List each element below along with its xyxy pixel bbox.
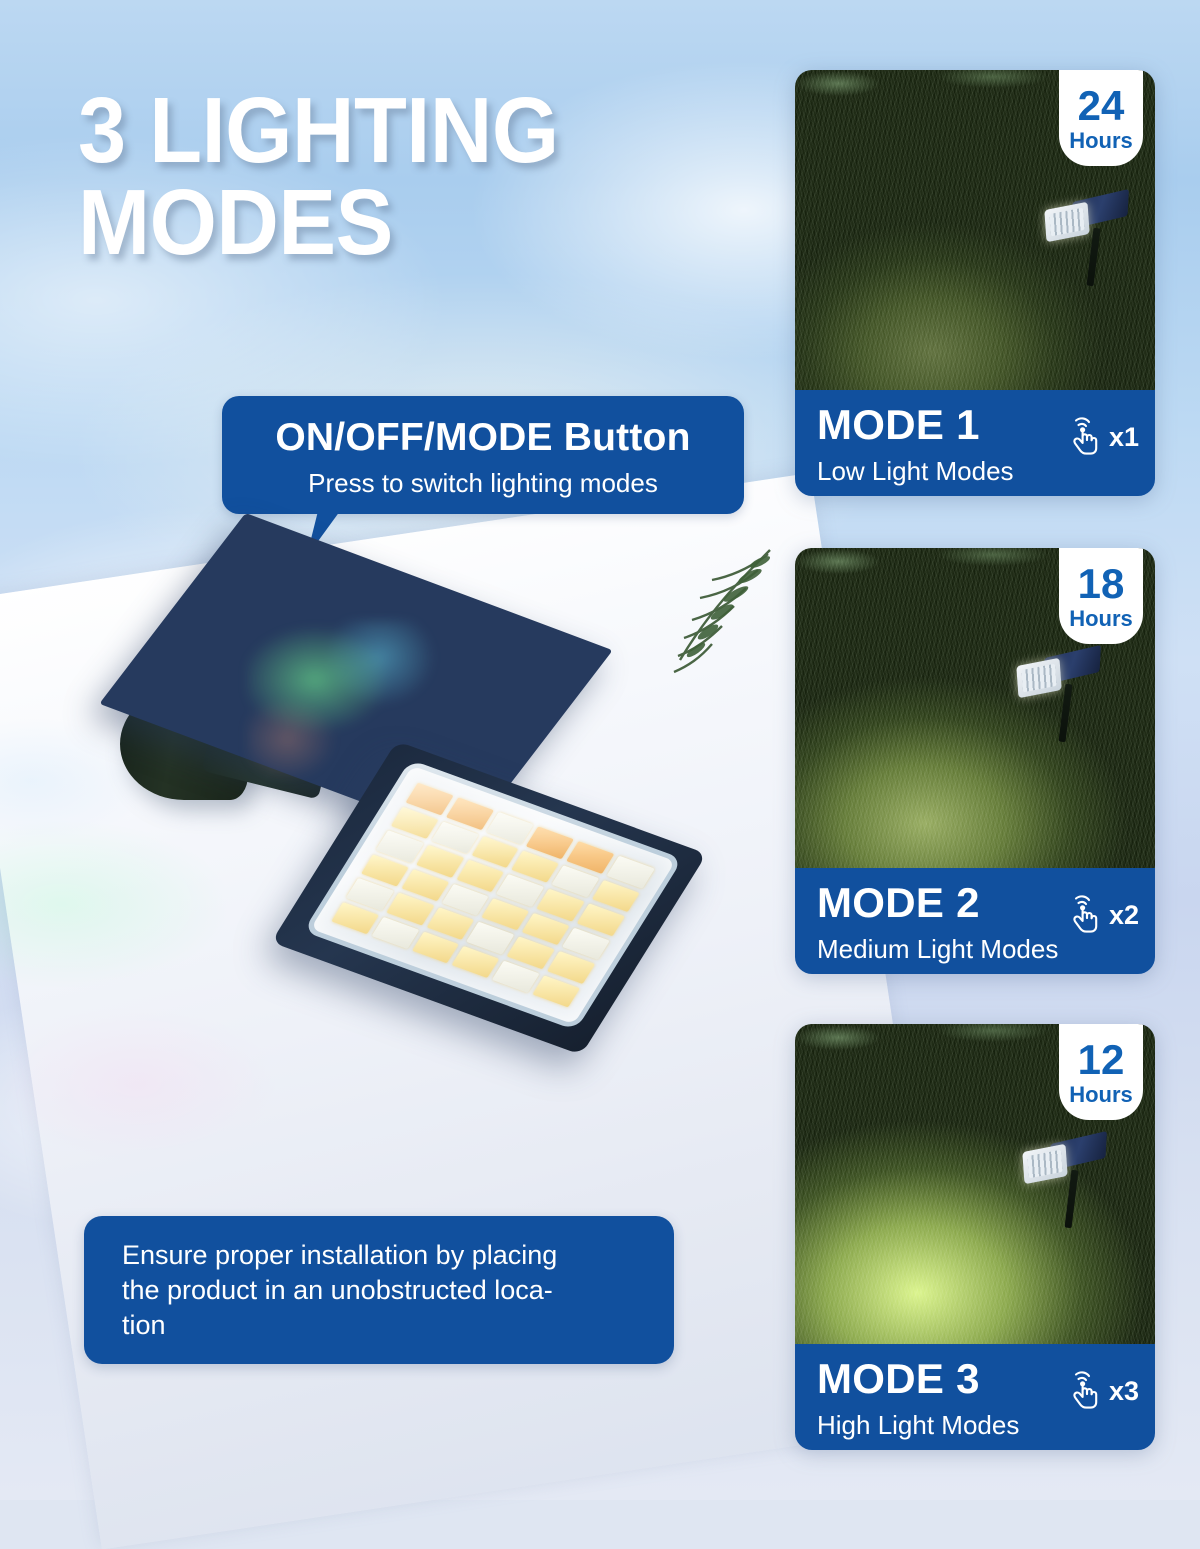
- staked-solar-lamp: [1045, 190, 1131, 286]
- mode-subtitle: High Light Modes: [817, 1412, 1155, 1438]
- tap-hand-icon: [1062, 414, 1104, 460]
- lamp-ground-stake: [1086, 228, 1100, 286]
- duration-unit: Hours: [1069, 1084, 1133, 1106]
- tap-indicator-3: x3: [1062, 1368, 1139, 1414]
- lamp-led-head: [1044, 202, 1089, 243]
- callout-subtitle: Press to switch lighting modes: [222, 457, 744, 499]
- mode-card-2[interactable]: 18 Hours MODE 2 Medium Light Modes x2: [795, 548, 1155, 974]
- duration-number: 18: [1078, 563, 1125, 605]
- callout-title: ON/OFF/MODE Button: [222, 396, 744, 457]
- tap-indicator-1: x1: [1062, 414, 1139, 460]
- duration-unit: Hours: [1069, 130, 1133, 152]
- tap-indicator-2: x2: [1062, 892, 1139, 938]
- lamp-ground-stake: [1058, 684, 1072, 742]
- staked-solar-lamp: [1017, 646, 1103, 742]
- mode-subtitle: Low Light Modes: [817, 458, 1155, 484]
- duration-badge-3: 12 Hours: [1059, 1024, 1143, 1120]
- product-photo: [96, 520, 736, 1080]
- duration-badge-2: 18 Hours: [1059, 548, 1143, 644]
- mode-card-3[interactable]: 12 Hours MODE 3 High Light Modes x3: [795, 1024, 1155, 1450]
- installation-note: Ensure proper installation by placing th…: [84, 1216, 674, 1364]
- installation-note-text: Ensure proper installation by placing th…: [84, 1216, 674, 1343]
- mode-button-callout: ON/OFF/MODE Button Press to switch light…: [222, 396, 744, 514]
- mode-3-photo: 12 Hours: [795, 1024, 1155, 1344]
- lamp-led-head: [1016, 658, 1061, 699]
- mode-1-photo: 24 Hours: [795, 70, 1155, 390]
- duration-number: 12: [1078, 1039, 1125, 1081]
- tap-count: x3: [1109, 1376, 1139, 1407]
- mode-2-photo: 18 Hours: [795, 548, 1155, 868]
- mode-card-1[interactable]: 24 Hours MODE 1 Low Light Modes x1: [795, 70, 1155, 496]
- tap-hand-icon: [1062, 1368, 1104, 1414]
- staked-solar-lamp: [1023, 1132, 1109, 1228]
- mode-subtitle: Medium Light Modes: [817, 936, 1155, 962]
- duration-number: 24: [1078, 85, 1125, 127]
- tap-count: x1: [1109, 422, 1139, 453]
- lamp-led-head: [1022, 1144, 1067, 1185]
- duration-unit: Hours: [1069, 608, 1133, 630]
- lamp-ground-stake: [1064, 1170, 1078, 1228]
- mode-3-label-bar: MODE 3 High Light Modes x3: [795, 1344, 1155, 1450]
- mode-2-label-bar: MODE 2 Medium Light Modes x2: [795, 868, 1155, 974]
- mode-1-label-bar: MODE 1 Low Light Modes x1: [795, 390, 1155, 496]
- duration-badge-1: 24 Hours: [1059, 70, 1143, 166]
- tap-count: x2: [1109, 900, 1139, 931]
- page-title: 3 LIGHTING MODES: [78, 84, 692, 268]
- tap-hand-icon: [1062, 892, 1104, 938]
